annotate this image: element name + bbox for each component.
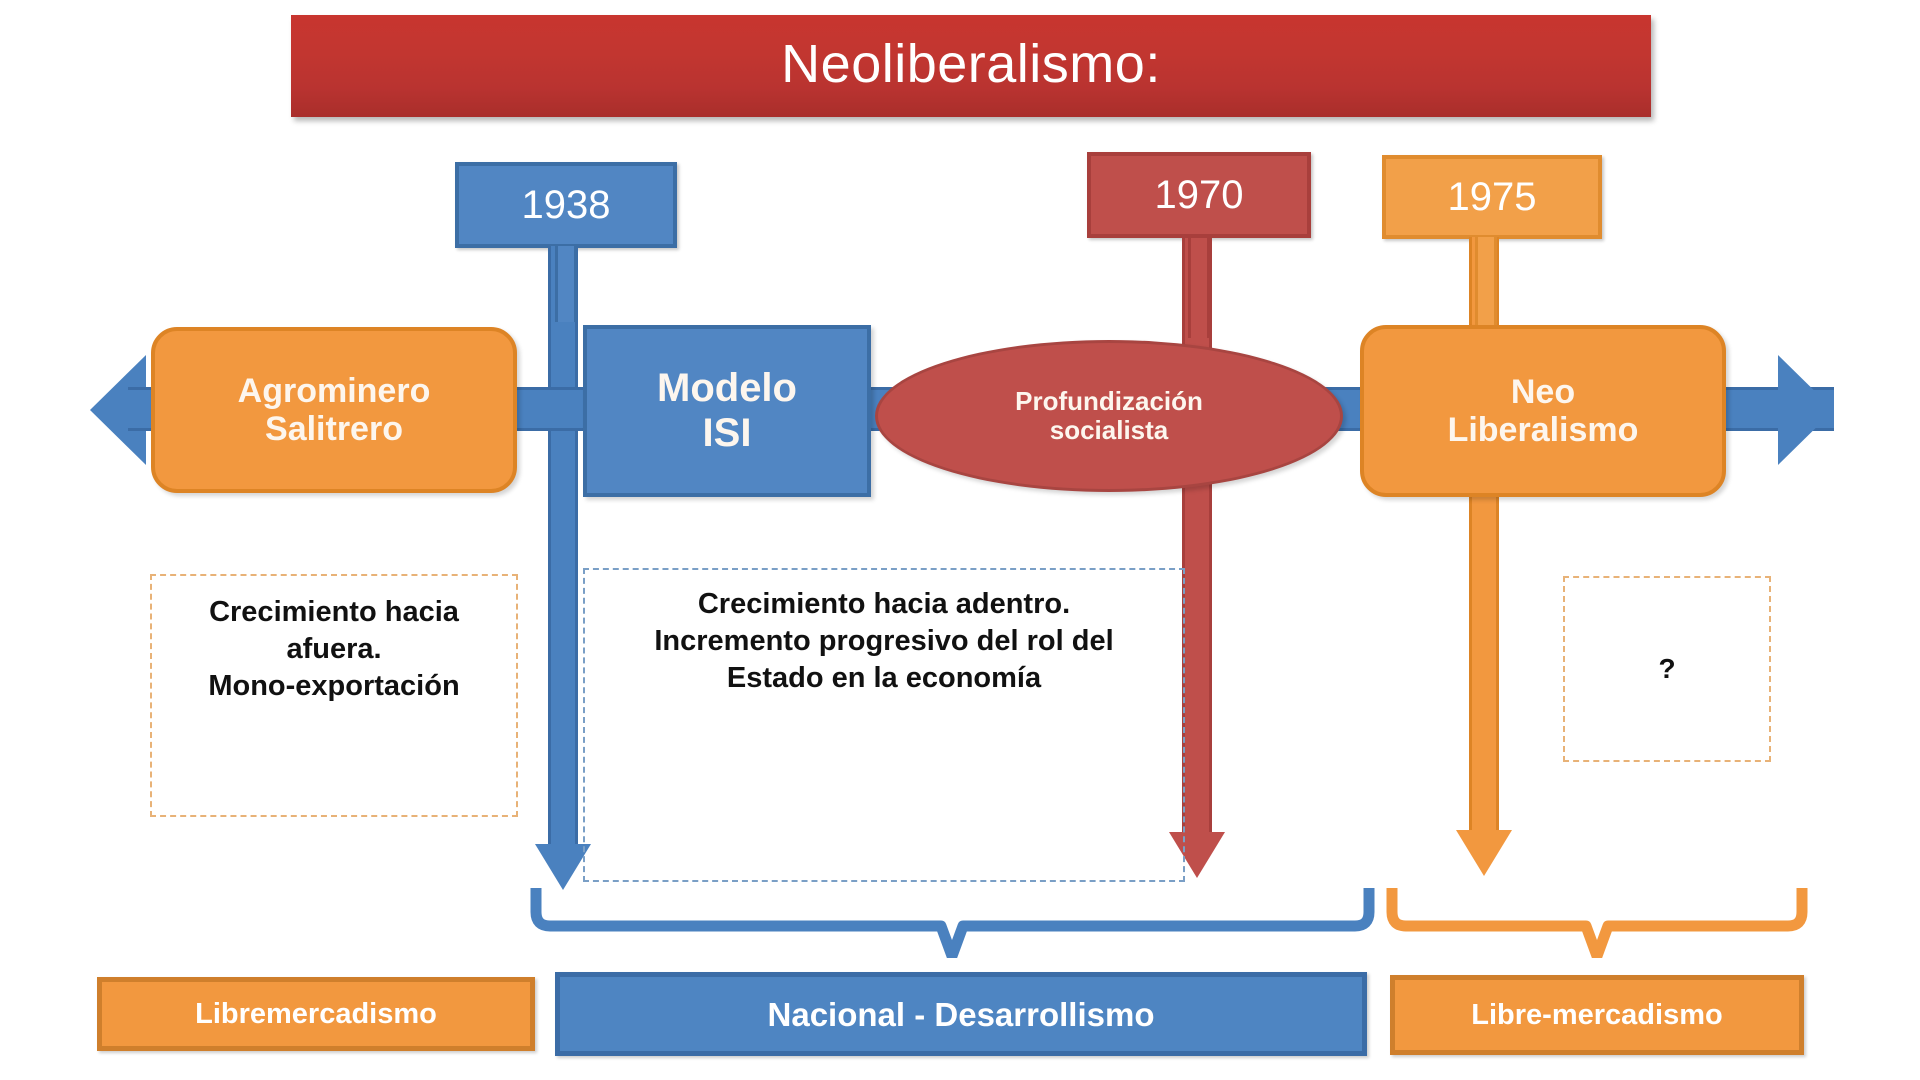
down-arrow-1938 (548, 246, 578, 890)
page-title: Neoliberalismo: (781, 37, 1161, 95)
bottom-label-libre-mercadismo: Libre-mercadismo (1390, 975, 1804, 1055)
note-crecimiento-adentro-line3: Estado en la economía (727, 662, 1041, 694)
note-unknown: ? (1563, 576, 1771, 762)
node-neo-liberalismo-label: Neo Liberalismo (1448, 373, 1639, 449)
bottom-label-libremercadismo: Libremercadismo (97, 977, 535, 1051)
diagram-canvas: Neoliberalismo: 1938 1970 1975 Agrominer… (0, 0, 1920, 1080)
year-1970-stem (1188, 238, 1210, 338)
year-marker-1970-label: 1970 (1155, 175, 1244, 215)
node-agrominero-salitrero: Agrominero Salitrero (151, 327, 517, 493)
year-marker-1970: 1970 (1087, 152, 1311, 238)
timeline-arrow-right-icon (1778, 355, 1834, 465)
note-crecimiento-afuera-line2: afuera. (286, 633, 381, 665)
bottom-label-nacional-desarrollismo-text: Nacional - Desarrollismo (768, 998, 1155, 1031)
year-marker-1975-label: 1975 (1448, 177, 1537, 217)
down-arrow-1975-head-icon (1456, 830, 1512, 876)
node-agrominero-salitrero-label: Agrominero Salitrero (238, 372, 431, 448)
node-neo-liberalismo: Neo Liberalismo (1360, 325, 1726, 497)
node-profundizacion-line1: Profundización (1015, 386, 1203, 416)
note-crecimiento-afuera-line3: Mono-exportación (208, 670, 459, 702)
node-agrominero-line1: Agrominero (238, 372, 431, 410)
year-marker-1938-label: 1938 (522, 185, 611, 225)
brace-libre-mercadismo (1386, 886, 1808, 958)
node-isi-line1: Modelo (657, 366, 797, 410)
bottom-label-libremercadismo-text: Libremercadismo (195, 1000, 437, 1029)
bottom-label-libre-mercadismo-text: Libre-mercadismo (1471, 1001, 1722, 1030)
note-crecimiento-adentro-line2: Incremento progresivo del rol del (654, 625, 1113, 657)
down-arrow-1938-shaft (548, 246, 578, 844)
node-agrominero-line2: Salitrero (265, 410, 403, 448)
year-marker-1975: 1975 (1382, 155, 1602, 239)
node-neoliberalismo-line1: Neo (1511, 373, 1575, 411)
node-modelo-isi-label: Modelo ISI (657, 366, 797, 456)
node-isi-line2: ISI (703, 411, 752, 455)
node-neoliberalismo-line2: Liberalismo (1448, 411, 1639, 449)
node-profundizacion-socialista-label: Profundización socialista (1015, 387, 1203, 445)
bottom-label-nacional-desarrollismo: Nacional - Desarrollismo (555, 972, 1367, 1056)
note-crecimiento-afuera-line1: Crecimiento hacia (209, 596, 459, 628)
year-marker-1938: 1938 (455, 162, 677, 248)
title-banner: Neoliberalismo: (291, 15, 1651, 117)
note-unknown-label: ? (1658, 651, 1675, 687)
brace-nacional-desarrollismo (530, 886, 1375, 958)
note-crecimiento-afuera: Crecimiento hacia afuera. Mono-exportaci… (150, 574, 518, 817)
node-profundizacion-line2: socialista (1050, 415, 1169, 445)
node-modelo-isi: Modelo ISI (583, 325, 871, 497)
year-1975-stem (1475, 237, 1497, 325)
year-1938-stem (555, 246, 577, 322)
node-profundizacion-socialista: Profundización socialista (875, 340, 1343, 492)
note-crecimiento-adentro: Crecimiento hacia adentro. Incremento pr… (583, 568, 1185, 882)
note-crecimiento-adentro-line1: Crecimiento hacia adentro. (698, 588, 1070, 620)
